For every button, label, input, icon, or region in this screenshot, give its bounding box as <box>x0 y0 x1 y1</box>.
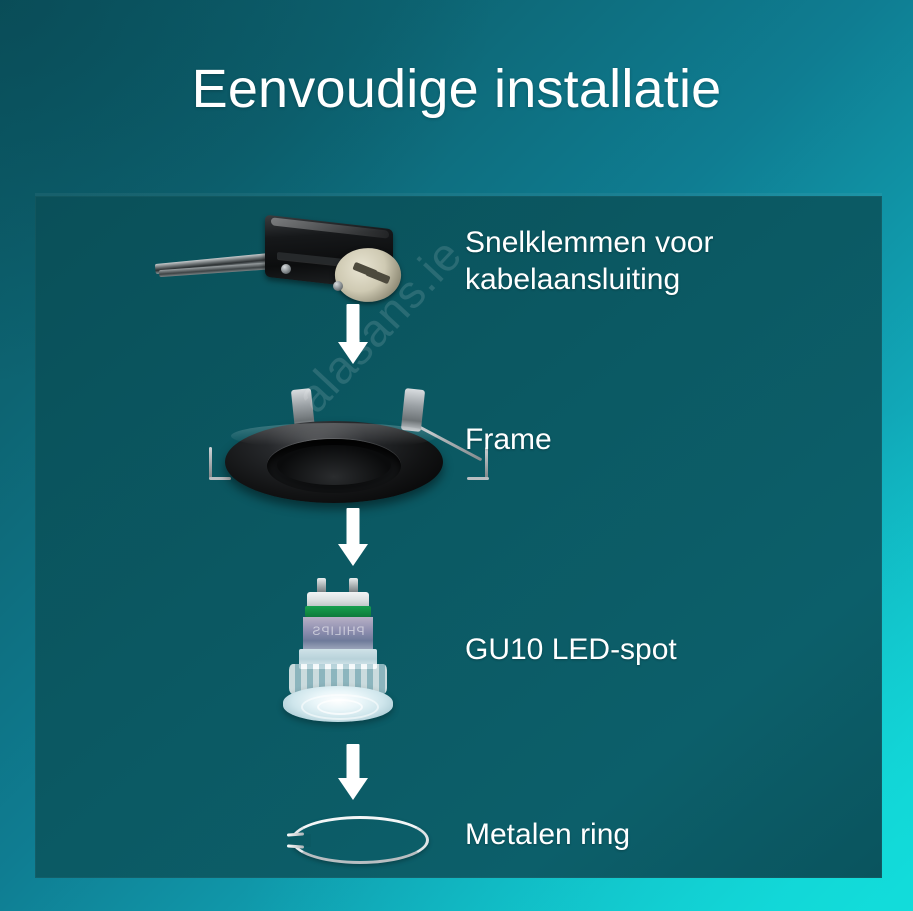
frame-ring-icon <box>185 377 485 517</box>
lamp-brand-text: PHILIPS <box>303 624 373 638</box>
connector-block-icon <box>153 214 413 310</box>
diagram-step-4: Metalen ring <box>35 796 882 878</box>
diagram-step-1: Snelklemmen voor kabelaansluiting <box>35 196 882 336</box>
arrow-down-2 <box>323 508 383 568</box>
step-1-label: Snelklemmen voor kabelaansluiting <box>465 224 713 298</box>
arrow-down-3 <box>323 744 383 804</box>
diagram-step-3: PHILIPS GU10 LED-spot <box>35 576 882 736</box>
step-2-label: Frame <box>465 421 552 458</box>
step-3-label: GU10 LED-spot <box>465 631 677 668</box>
step-4-label: Metalen ring <box>465 816 630 853</box>
panel-top-bezel <box>35 193 882 196</box>
diagram-step-2: Frame <box>35 371 882 521</box>
led-lamp-icon: PHILIPS <box>273 576 403 726</box>
page-title: Eenvoudige installatie <box>0 58 913 120</box>
diagram-panel: alasans.ie Snelklemmen voor kabelaanslui… <box>35 196 882 878</box>
arrow-down-1 <box>323 304 383 364</box>
product-infographic: Eenvoudige installatie alasans.ie Snelkl… <box>0 0 913 911</box>
spring-ring-icon <box>283 810 433 870</box>
